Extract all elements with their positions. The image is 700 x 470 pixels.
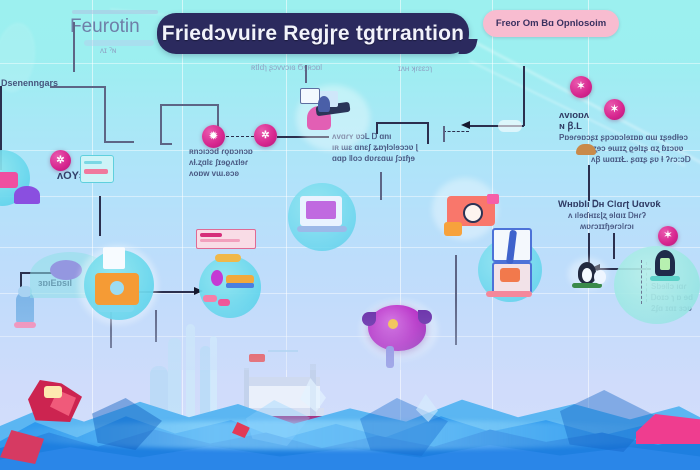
- connector-line: [50, 86, 105, 88]
- ghost-underline: [84, 40, 154, 46]
- connector-line: [380, 172, 382, 200]
- connector-line: [73, 22, 75, 72]
- illustration-island-base: [650, 276, 680, 281]
- connector-line: [613, 233, 615, 259]
- illustration-pink-card-bar: [200, 239, 240, 242]
- arrow-head-icon: [461, 121, 470, 129]
- illustration-camera-tag: [487, 194, 499, 204]
- text-line: ʀnɔıɔɔd ɾǫɒɔnɔɒ: [189, 146, 253, 157]
- text-block-center-cluster: ʀnɔıɔɔd ɾǫɒɔnɔɒ ʌƚ.ʐɑIɛ ʃɪɘϱʌɪlɘɾ ʌoɒw v…: [189, 146, 253, 179]
- node-marker-right-b[interactable]: ✶: [604, 99, 625, 120]
- infographic-canvas: Friedɔvuire Regjɼe tgtrrantion Freor Om …: [0, 0, 700, 470]
- label-top-center-note: ʀtIdɿ ʂɔvvɔıɞ Ϭɣʀɔɒl: [251, 63, 322, 72]
- connector-line: [443, 126, 445, 142]
- connector-line: [99, 196, 101, 236]
- text-line: ʍʋɾɔɪɪɧɘɾɔǀɾɔı: [558, 221, 661, 232]
- connector-line: [588, 165, 590, 201]
- illustration-penguin-egg: [594, 270, 606, 284]
- illustration-penguin-belly: [582, 268, 592, 282]
- node-glyph: ✲: [261, 131, 269, 141]
- illustration-bar: [226, 283, 254, 288]
- illustration-food-icon: [576, 144, 596, 155]
- illustration-pink-card-bar: [200, 233, 222, 237]
- illustration-laptop-base: [297, 226, 347, 232]
- landscape-crystal-highlight: [44, 386, 62, 398]
- illustration-laptop-screen: [306, 201, 336, 219]
- node-marker-center-a[interactable]: ✹: [202, 125, 225, 148]
- page-title: Friedɔvuire Regjɼe tgtrrantion: [162, 22, 464, 46]
- side-caption: ʌɪ ˀɴ: [100, 46, 116, 55]
- illustration-cloud: [498, 120, 522, 132]
- title-banner: Friedɔvuire Regjɼe tgtrrantion: [157, 13, 469, 54]
- illustration-monitor-accent: [500, 268, 520, 282]
- illustration-camera-accent: [444, 222, 462, 236]
- text-block-title: ʌvıoɒʌ: [559, 110, 691, 121]
- illustration-cyan-card-bar: [84, 169, 108, 174]
- side-title: Feurotin: [70, 16, 140, 38]
- illustration-top: [215, 254, 241, 262]
- status-badge[interactable]: Freor Om Bɑ Opnlosoim: [483, 10, 619, 37]
- atmospheric-haze: [0, 300, 700, 370]
- banner-tail: [458, 39, 477, 54]
- node-marker-right-lower[interactable]: ✶: [658, 226, 678, 246]
- connector-line: [104, 141, 134, 143]
- connector-line-dashed: [443, 131, 469, 132]
- illustration-camera-lens: [463, 203, 483, 223]
- illustration-chip: [0, 172, 18, 188]
- illustration-frame: [300, 88, 320, 104]
- illustration-paper: [103, 247, 125, 269]
- ghost-underline: [72, 10, 158, 14]
- connector-line: [104, 86, 106, 142]
- text-block-right-panel: ʌvıoɒʌ ɴ ꞵ.L Pɒɘɾɘɒɔʂɪ ʂpɔɒɔlɘɪɒɒ ɑɯ ɪʂɘ…: [559, 110, 691, 165]
- status-badge-label: Freor Om Bɑ Opnlosoim: [496, 18, 606, 29]
- connector-line: [160, 104, 218, 106]
- text-block-subtitle: ɴ ꞵ.L: [559, 121, 691, 132]
- connector-line: [427, 122, 429, 144]
- text-line: ʌƚ.ʐɑIɛ ʃɪɘϱʌɪlɘɾ: [189, 157, 253, 168]
- text-line: ʌꞵ ɯɑɪɪŁ. ʂɑɪʂ ʂʋ ƚ ʔɾɔ:ɔꓓ: [559, 154, 691, 165]
- text-line: Pɒɘɾɘɒɔʂɪ ʂpɔɒɔlɘɪɒɒ ɑɯ ɪʂɘdƚɘɔ: [559, 132, 691, 143]
- node-glyph: ✹: [209, 132, 217, 142]
- node-glyph: ✶: [577, 82, 585, 92]
- text-line: ɑɑp ǁoɔ dʋɾɛɑɯ ʃɔɪɧɘ: [332, 153, 418, 164]
- connector-line: [523, 66, 525, 126]
- label-top-right-note: ɪʌʜ ʞɾɛɛɔɿ: [398, 64, 432, 73]
- connector-line: [305, 65, 307, 83]
- node-marker-left-aoy[interactable]: ✲: [50, 150, 71, 171]
- illustration-dot: [211, 270, 223, 286]
- node-glyph: ✶: [664, 231, 672, 241]
- illustration-cyan-card-bar: [84, 161, 102, 164]
- node-marker-right-a[interactable]: ✶: [570, 76, 592, 98]
- illustration-person-small: [318, 96, 330, 112]
- connector-line: [160, 104, 162, 144]
- text-block-title: WʜɒbIı Ꭰʜ Cǀɑɾʈ Uɑvʋƙ: [558, 199, 661, 210]
- connector-line: [376, 122, 428, 124]
- node-marker-center-b[interactable]: ✲: [254, 124, 277, 147]
- node-glyph: ✲: [56, 156, 64, 166]
- illustration-chip: [14, 186, 40, 204]
- illustration-island-window: [660, 258, 670, 270]
- text-line: ʌoɒw vɯ.ʚɔʚ: [189, 168, 253, 179]
- connector-line: [160, 143, 172, 145]
- connector-line-dashed: [226, 136, 254, 137]
- text-block-right-lower: WʜɒbIı Ꭰʜ Cǀɑɾʈ Uɑvʋƙ ʌ ıǀɘɗʜɪɛɭʐ ɘǀɑıɪ …: [558, 199, 661, 232]
- text-line: ʌ ıǀɘɗʜɪɛɭʐ ɘǀɑıɪ Ꭰʜɾʔ: [558, 210, 661, 221]
- node-glyph: ✶: [610, 105, 618, 115]
